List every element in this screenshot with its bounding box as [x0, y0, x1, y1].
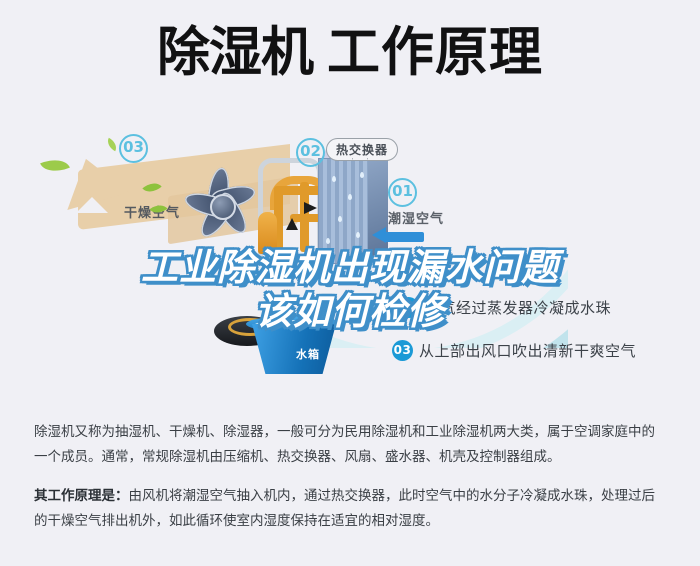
article-paragraph-2: 其工作原理是：由风机将潮湿空气抽入机内，通过热交换器，此时空气中的水分子冷凝成水… — [34, 484, 668, 534]
caption-line-03: 03从上部出风口吹出清新干爽空气 — [392, 340, 636, 361]
heat-exchanger-callout-label: 热交换器 — [326, 138, 398, 161]
water-tank-icon: 水箱 — [246, 316, 342, 378]
caption-text-02: 空气经过蒸发器冷凝成水珠 — [425, 299, 611, 317]
caption-line-02: 02空气经过蒸发器冷凝成水珠 — [398, 297, 611, 318]
air-intake-arrow-icon — [372, 230, 424, 244]
caption-badge-03: 03 — [392, 340, 413, 361]
page-title-part1: 除湿机 — [157, 26, 313, 79]
page-title: 除湿机工作原理 — [0, 26, 700, 79]
callout-badge-02: 02 — [296, 138, 325, 167]
water-tank-label: 水箱 — [296, 346, 320, 362]
article-body: 除湿机又称为抽湿机、干燥机、除湿器，一般可分为民用除湿机和工业除湿机两大类，属于… — [34, 420, 668, 548]
page-root: 除湿机工作原理 干燥空气 — [0, 0, 700, 566]
moist-air-label: 潮湿空气 — [388, 208, 444, 227]
article-paragraph-1: 除湿机又称为抽湿机、干燥机、除湿器，一般可分为民用除湿机和工业除湿机两大类，属于… — [34, 420, 668, 470]
page-title-part2: 工作原理 — [327, 26, 543, 79]
article-paragraph-2-lead: 其工作原理是： — [34, 488, 129, 504]
callout-badge-03: 03 — [119, 134, 148, 163]
caption-text-03: 从上部出风口吹出清新干爽空气 — [419, 342, 636, 360]
caption-badge-02: 02 — [398, 297, 419, 318]
callout-badge-01: 01 — [388, 178, 417, 207]
